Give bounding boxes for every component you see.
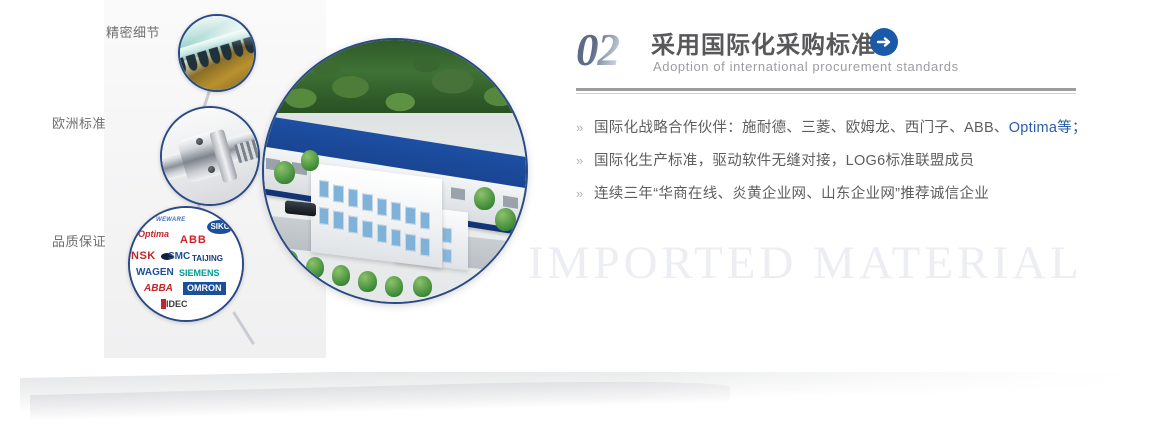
list-item: » 国际化生产标准，驱动软件无缝对接，LOG6标准联盟成员 xyxy=(576,151,1076,171)
label-european-standard: 欧洲标准 xyxy=(52,113,106,132)
label-precision-detail: 精密细节 xyxy=(106,22,160,41)
brand-taijing: TAIJING xyxy=(192,255,223,263)
brand-siemens: SIEMENS xyxy=(179,269,220,278)
list-item: » 连续三年“华商在线、炎黄企业网、山东企业网”推荐诚信企业 xyxy=(576,184,1076,204)
watermark-text: IMPORTED MATERIAL xyxy=(528,236,1083,290)
chevron-bullet-icon: » xyxy=(576,184,594,204)
gear-macro-photo xyxy=(178,14,256,92)
factory-aerial-photo xyxy=(262,38,528,304)
list-item: » 国际化战略合作伙伴：施耐德、三菱、欧姆龙、西门子、ABB、Optima等； xyxy=(576,118,1076,138)
bottom-shadow-sweep xyxy=(0,372,1150,430)
left-image-stage: 精密细节 欧洲标准 品质保证 WEWARE xyxy=(0,0,560,372)
brand-omron: OMRON xyxy=(183,282,226,295)
page-title: 采用国际化采购标准 xyxy=(651,25,876,60)
brand-weware: WEWARE xyxy=(156,217,185,223)
bullet-text-3: 连续三年“华商在线、炎黄企业网、山东企业网”推荐诚信企业 xyxy=(594,184,989,204)
ball-screw-photo xyxy=(160,106,260,206)
chevron-bullet-icon: » xyxy=(576,118,594,138)
brand-idec: IDEC xyxy=(166,300,188,309)
bullet-text-1-highlight: Optima等； xyxy=(1009,120,1087,136)
bullet-text-1: 国际化战略合作伙伴：施耐德、三菱、欧姆龙、西门子、ABB、Optima等； xyxy=(594,118,1087,138)
brand-abba: ABBA xyxy=(144,284,173,294)
header-divider xyxy=(576,88,1076,94)
brand-nsk: NSK xyxy=(131,251,156,262)
bullet-list: » 国际化战略合作伙伴：施耐德、三菱、欧姆龙、西门子、ABB、Optima等； … xyxy=(576,118,1076,217)
section-header: 02 采用国际化采购标准 Adoption of international p… xyxy=(576,22,1076,88)
brand-wagen: WAGEN xyxy=(136,268,174,278)
brand-smc: SMC xyxy=(168,252,190,262)
brand-logos-collage: WEWARE SIKO Optima ABB NSK SMC TAIJING W… xyxy=(128,206,244,322)
section-root: 精密细节 欧洲标准 品质保证 WEWARE xyxy=(0,0,1150,430)
arrow-right-circle-icon[interactable] xyxy=(870,28,898,56)
brand-abb: ABB xyxy=(180,235,207,246)
section-subtitle: Adoption of international procurement st… xyxy=(653,59,959,74)
brand-siko: SIKO xyxy=(207,220,233,234)
section-number: 02 xyxy=(576,24,619,76)
bullet-text-1-plain: 国际化战略合作伙伴：施耐德、三菱、欧姆龙、西门子、ABB、 xyxy=(594,120,1009,136)
bullet-text-2: 国际化生产标准，驱动软件无缝对接，LOG6标准联盟成员 xyxy=(594,151,974,171)
brand-optima: Optima xyxy=(138,230,169,239)
chevron-bullet-icon: » xyxy=(576,151,594,171)
section-content: 02 采用国际化采购标准 Adoption of international p… xyxy=(576,22,1076,88)
label-quality-assurance: 品质保证 xyxy=(52,231,106,250)
